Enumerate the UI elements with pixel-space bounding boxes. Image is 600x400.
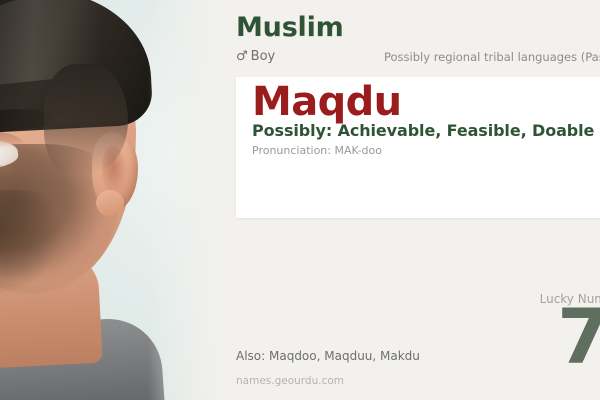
gender-text: Boy: [251, 49, 276, 64]
gender-label: ♂Boy: [236, 49, 275, 64]
content-panel: Muslim ♂Boy Possibly regional tribal lan…: [222, 0, 600, 400]
name-title: Maqdu: [252, 79, 402, 125]
name-card: Maqdu Possibly: Achievable, Feasible, Do…: [236, 77, 600, 218]
religion-heading: Muslim: [236, 14, 344, 41]
name-pronunciation: Pronunciation: MAK-doo: [252, 144, 382, 157]
site-url-label: names.geourdu.com: [236, 375, 344, 387]
ear-lobe-shape: [96, 190, 124, 216]
lucky-number-value: 7: [408, 302, 600, 372]
origin-language-label: Possibly regional tribal languages (Pas: [384, 50, 600, 64]
photo-edge-fade: [148, 0, 222, 400]
hair-fade-shading: [44, 64, 128, 174]
lucky-number-block: Lucky Num 7: [408, 292, 600, 372]
name-card-page: Muslim ♂Boy Possibly regional tribal lan…: [0, 0, 600, 400]
name-meaning: Possibly: Achievable, Feasible, Doable: [252, 121, 594, 140]
meta-row: ♂Boy Possibly regional tribal languages …: [236, 49, 600, 67]
alternate-spellings: Also: Maqdoo, Maqduu, Makdu: [236, 349, 420, 363]
portrait-photo: [0, 0, 222, 400]
male-gender-icon: ♂: [236, 49, 248, 64]
